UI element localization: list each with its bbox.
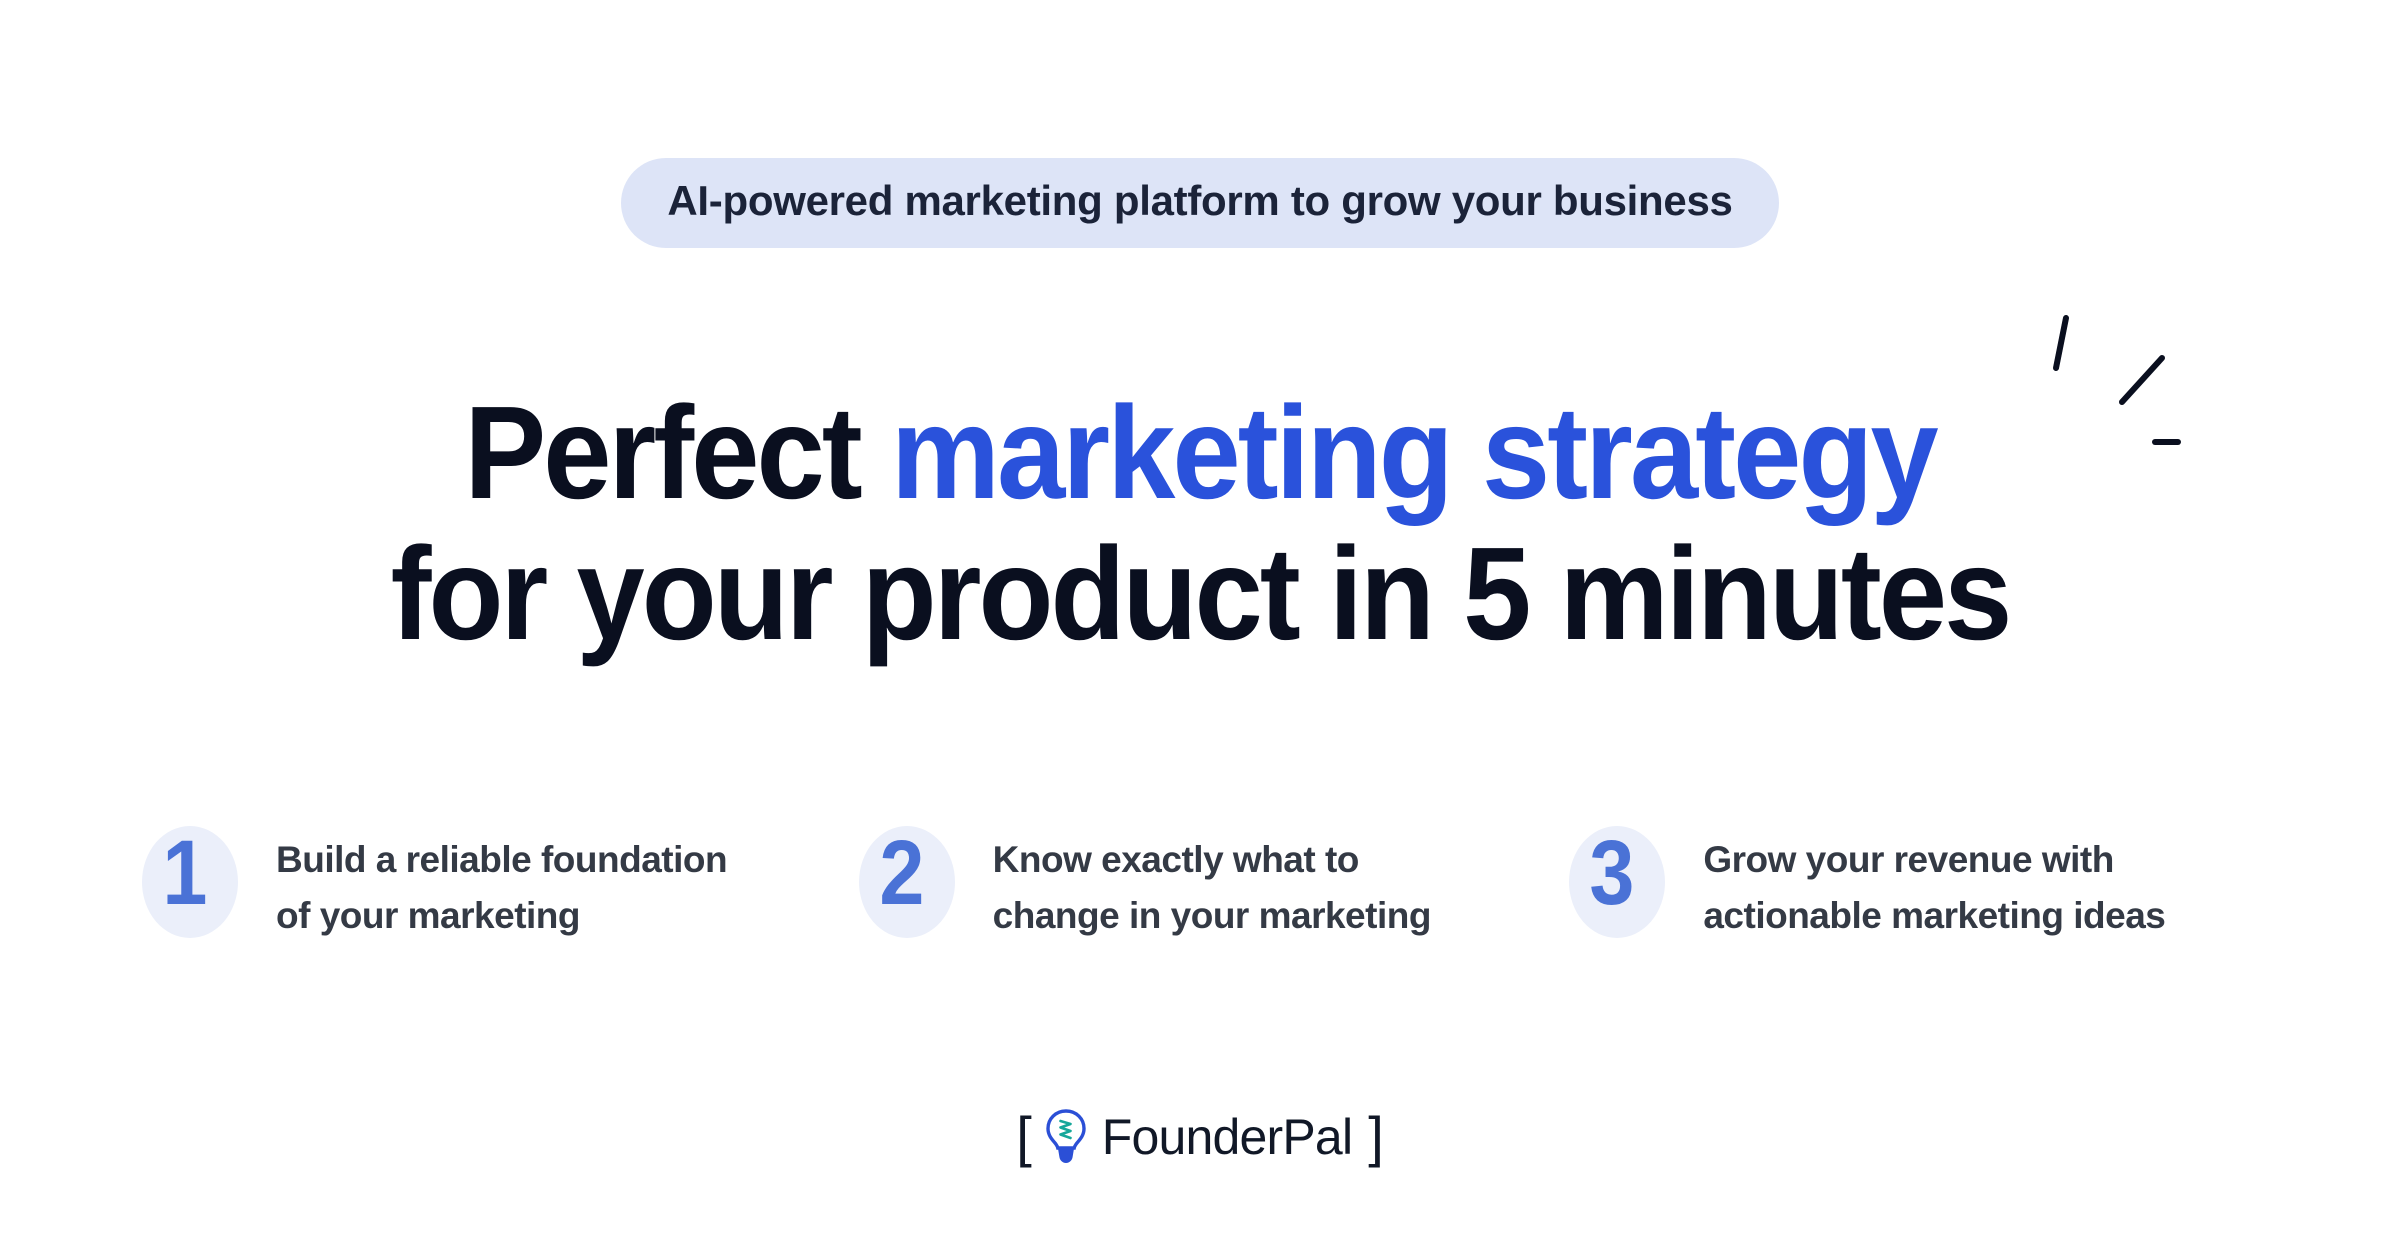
brand-logo: [ FounderPal ] [0,1108,2400,1166]
headline-line-1: Perfect marketing strategy [84,382,2316,523]
feature-list: 1 Build a reliable foundation of your ma… [0,818,2400,944]
feature-text-3-line-2: actionable marketing ideas [1703,888,2165,944]
page-title: Perfect marketing strategy for your prod… [84,382,2316,664]
feature-text-1-line-1: Build a reliable foundation [276,832,727,888]
vertical-stroke-icon [2056,318,2066,368]
bracket-left: [ [1016,1109,1032,1165]
bracket-right: ] [1368,1109,1384,1165]
feature-item-3: 3 Grow your revenue with actionable mark… [1555,818,2280,944]
badge-row: AI-powered marketing platform to grow yo… [0,158,2400,248]
feature-item-1: 1 Build a reliable foundation of your ma… [128,818,853,944]
feature-text-3-line-1: Grow your revenue with [1703,832,2165,888]
number-glyph-3: 3 [1562,824,1661,923]
number-glyph-2: 2 [851,824,950,923]
feature-number-badge-1: 1 [128,826,240,938]
feature-text-2-line-1: Know exactly what to [993,832,1431,888]
feature-number-badge-3: 3 [1555,826,1667,938]
wordmark: FounderPal [1102,1112,1353,1162]
tagline-badge: AI-powered marketing platform to grow yo… [621,158,1778,248]
feature-text-2: Know exactly what to change in your mark… [993,818,1431,944]
feature-text-1: Build a reliable foundation of your mark… [276,818,727,944]
hero-section: AI-powered marketing platform to grow yo… [0,0,2400,1260]
feature-number-badge-2: 2 [845,826,957,938]
feature-text-1-line-2: of your marketing [276,888,727,944]
headline-line-2: for your product in 5 minutes [84,523,2316,664]
feature-text-3: Grow your revenue with actionable market… [1703,818,2165,944]
lightbulb-icon [1044,1108,1088,1166]
feature-text-2-line-2: change in your marketing [993,888,1431,944]
number-glyph-1: 1 [135,824,234,923]
headline-line-1-plain: Perfect [464,379,891,526]
headline-accent: marketing strategy [891,379,1936,526]
feature-item-2: 2 Know exactly what to change in your ma… [845,818,1570,944]
